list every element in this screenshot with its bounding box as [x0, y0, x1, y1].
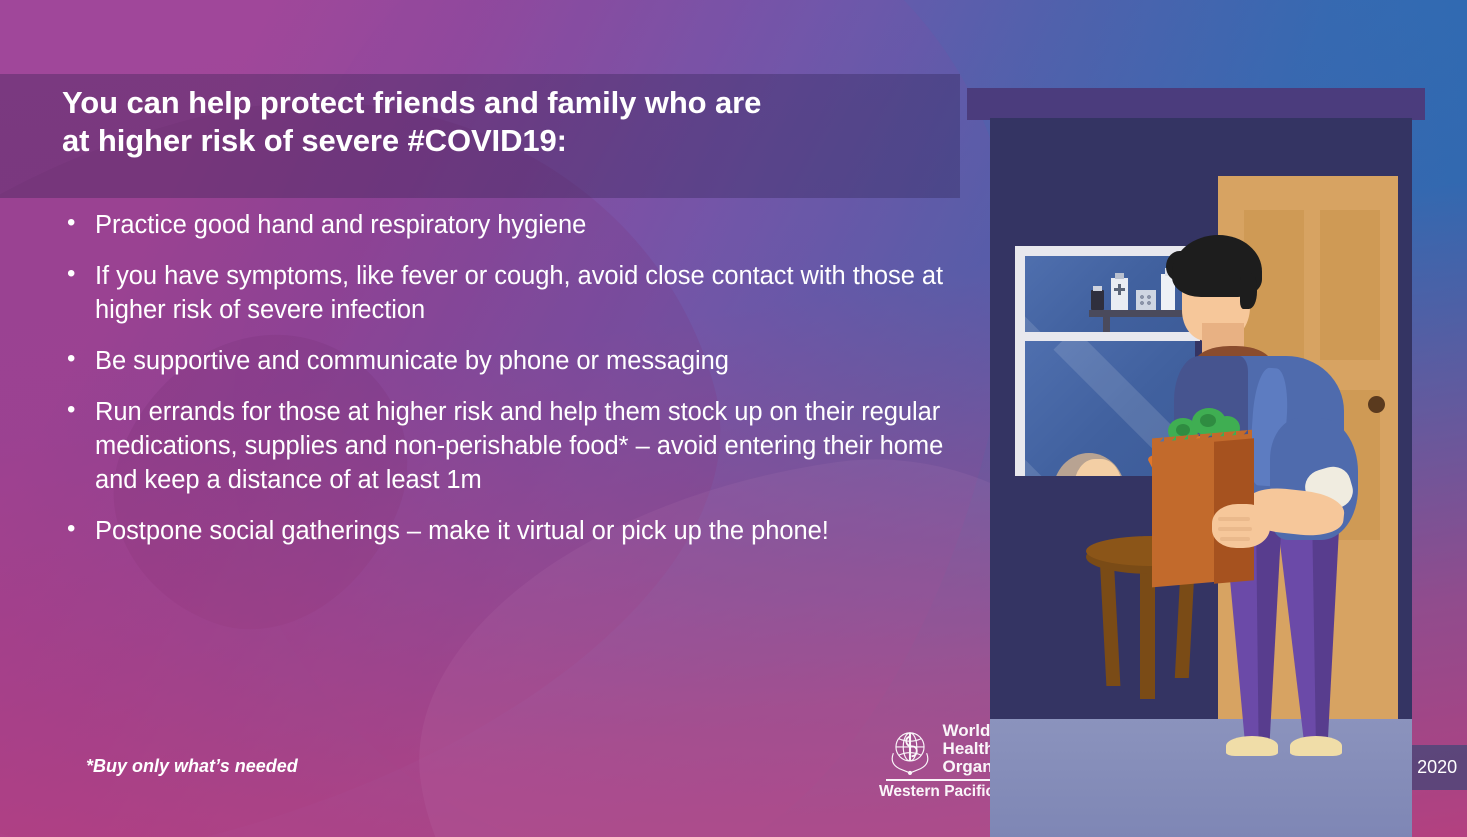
list-item: Postpone social gatherings – make it vir… — [62, 514, 972, 548]
list-item: Run errands for those at higher risk and… — [62, 395, 972, 497]
man-hair — [1240, 273, 1257, 309]
man-shoe — [1226, 736, 1278, 756]
medicine-bottle-cap — [1093, 286, 1102, 291]
page-title-line2: at higher risk of severe #COVID19: — [62, 122, 942, 160]
broccoli-shade — [1200, 414, 1216, 427]
illustration — [990, 118, 1412, 837]
page-title: You can help protect friends and family … — [62, 84, 942, 160]
medical-cross-icon — [1114, 288, 1125, 291]
man-hand — [1212, 504, 1270, 548]
illustration-top-bar — [967, 88, 1425, 120]
man-finger — [1218, 517, 1250, 521]
man-leg-shadow — [1256, 514, 1282, 744]
man-shoe — [1290, 736, 1342, 756]
window-glare — [1025, 256, 1092, 332]
medicine-bottle-icon — [1091, 290, 1104, 310]
list-item: Practice good hand and respiratory hygie… — [62, 208, 972, 242]
man-finger — [1218, 527, 1252, 531]
list-item: If you have symptoms, like fever or coug… — [62, 259, 972, 327]
slide-canvas: You can help protect friends and family … — [0, 0, 1467, 837]
page-title-line1: You can help protect friends and family … — [62, 84, 942, 122]
man-with-groceries — [1140, 118, 1412, 837]
footnote: *Buy only what’s needed — [86, 756, 298, 777]
man-leg-shadow — [1312, 510, 1340, 744]
medicine-tube-cap — [1115, 273, 1124, 279]
list-item: Be supportive and communicate by phone o… — [62, 344, 972, 378]
who-emblem-icon — [884, 723, 936, 775]
window-glare — [1025, 256, 1063, 332]
shelf-bracket — [1103, 317, 1110, 332]
advice-list: Practice good hand and respiratory hygie… — [62, 208, 972, 565]
man-finger — [1220, 537, 1250, 541]
